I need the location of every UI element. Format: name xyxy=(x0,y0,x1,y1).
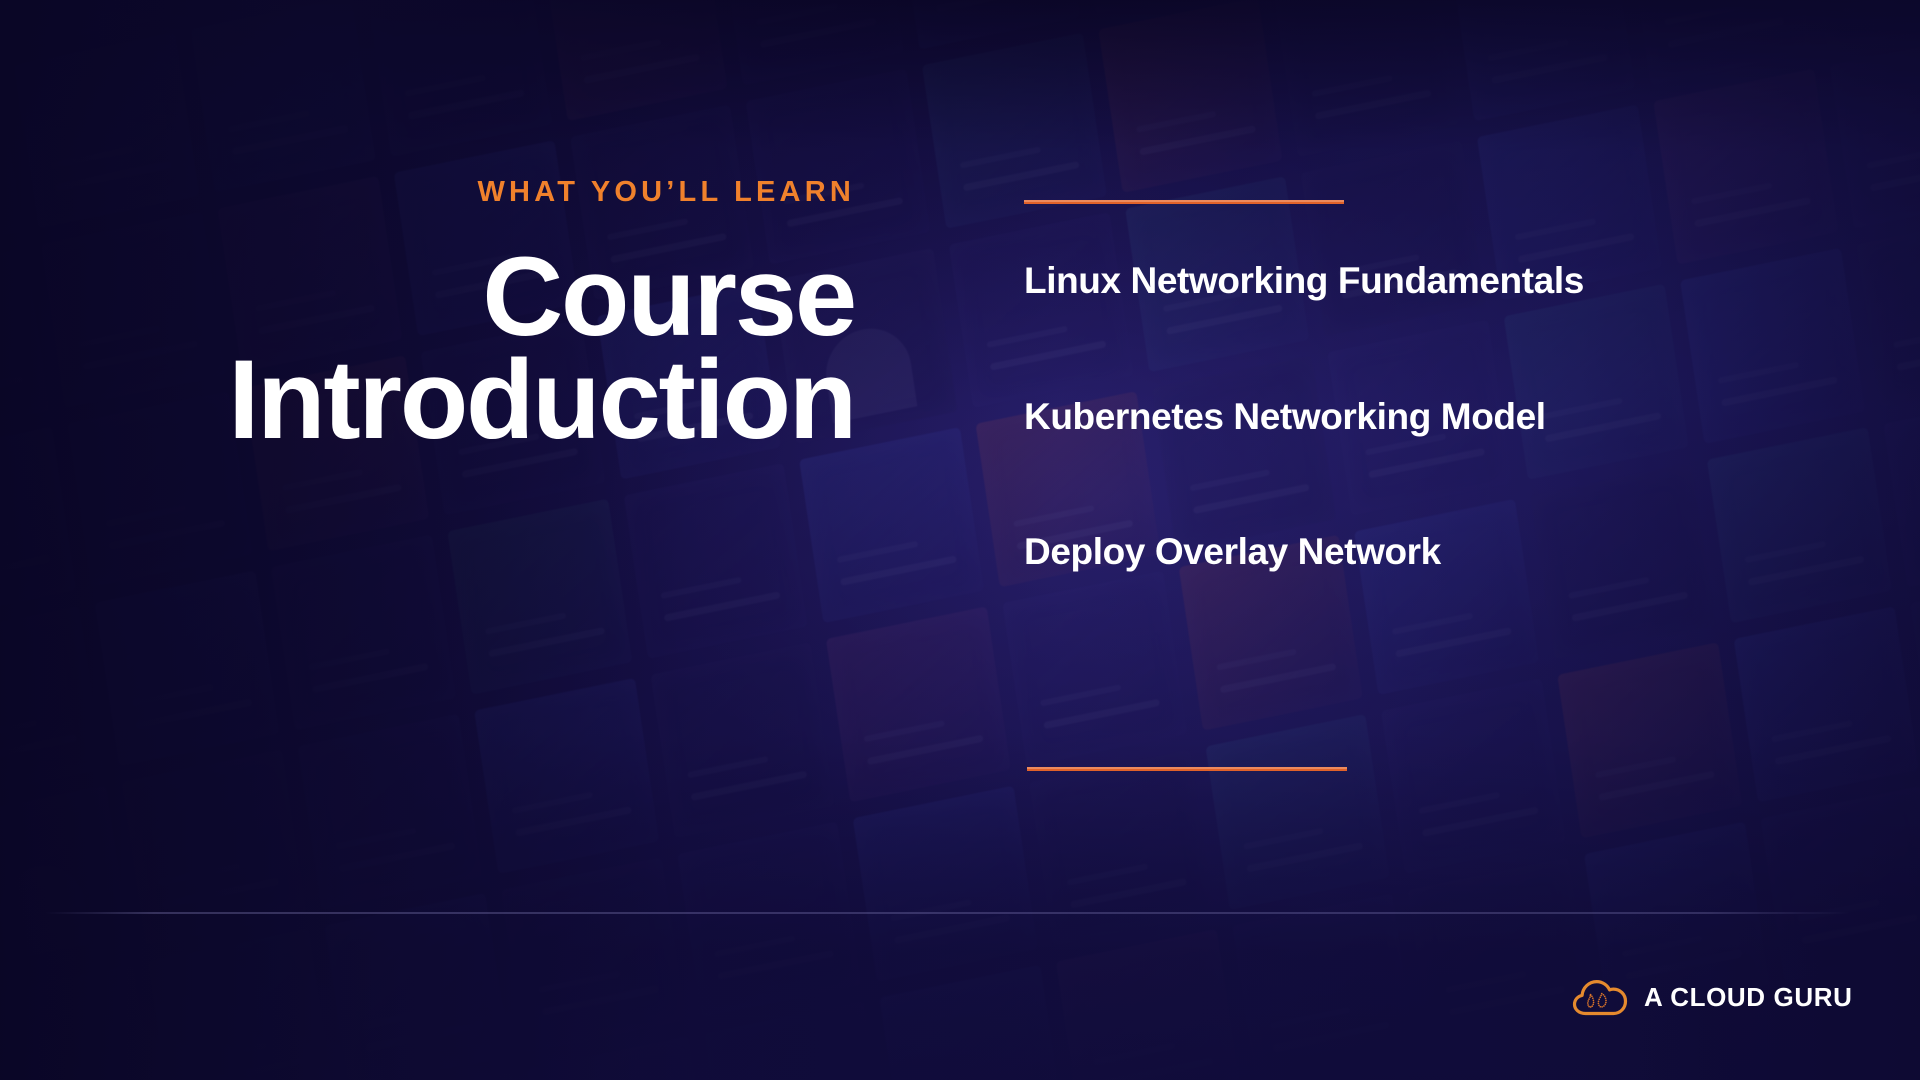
learning-objectives-list: Linux Networking Fundamentals Kubernetes… xyxy=(1024,261,1644,573)
learning-objectives-block: Linux Networking Fundamentals Kubernetes… xyxy=(1024,200,1644,573)
list-item: Linux Networking Fundamentals xyxy=(1024,261,1644,302)
footer-divider xyxy=(45,912,1850,914)
page-title: Course Introduction xyxy=(120,245,855,451)
brand-name: A CLOUD GURU xyxy=(1644,982,1852,1013)
divider-rule-bottom xyxy=(1027,767,1347,771)
eyebrow-label: WHAT YOU’LL LEARN xyxy=(120,178,855,207)
cloud-icon xyxy=(1572,977,1628,1017)
slide-content: WHAT YOU’LL LEARN Course Introduction Li… xyxy=(0,0,1920,1080)
list-item: Deploy Overlay Network xyxy=(1024,532,1644,573)
list-item: Kubernetes Networking Model xyxy=(1024,397,1644,438)
brand-logo: A CLOUD GURU xyxy=(1572,977,1852,1017)
divider-rule-top xyxy=(1024,200,1344,204)
slide-canvas: WHAT YOU’LL LEARN Course Introduction Li… xyxy=(0,0,1920,1080)
title-block: WHAT YOU’LL LEARN Course Introduction xyxy=(120,178,855,451)
